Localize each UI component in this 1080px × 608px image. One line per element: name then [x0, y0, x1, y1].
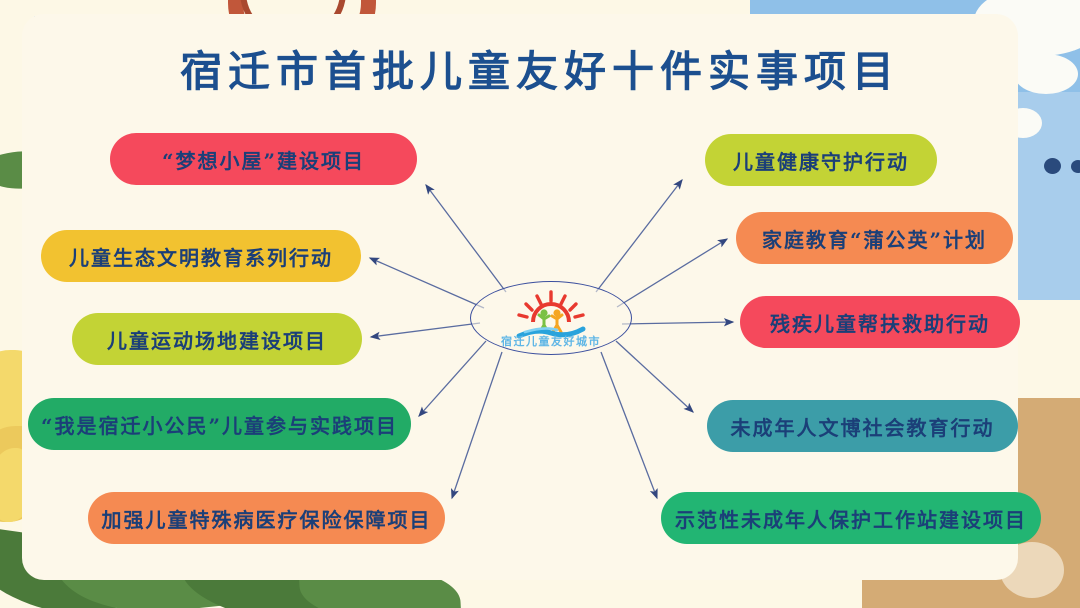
sun-ray-2 [537, 296, 541, 304]
connector-arrow-7 [617, 239, 727, 307]
project-pill-left-1[interactable]: “梦想小屋”建设项目 [110, 133, 417, 185]
project-pill-right-2[interactable]: 家庭教育“蒲公英”计划 [736, 212, 1013, 264]
sun-ray-7 [575, 315, 583, 317]
connector-arrow-3 [371, 323, 480, 337]
project-pill-label: 家庭教育“蒲公英”计划 [762, 224, 987, 253]
project-pill-label: 残疾儿童帮扶救助行动 [770, 308, 990, 337]
project-pill-label: 加强儿童特殊病医疗保险保障项目 [102, 504, 432, 533]
emblem-label: 宿迁儿童友好城市 [471, 333, 631, 349]
poster-canvas: 宿迁市首批儿童友好十件实事项目 “梦想小屋”建设项目儿童生态文明教育系列行动儿童… [0, 0, 1080, 608]
connector-arrow-5 [452, 352, 502, 498]
project-pill-label: 儿童生态文明教育系列行动 [69, 242, 333, 271]
project-pill-left-2[interactable]: 儿童生态文明教育系列行动 [41, 230, 361, 282]
project-pill-label: “我是宿迁小公民”儿童参与实践项目 [41, 410, 398, 439]
project-pill-left-5[interactable]: 加强儿童特殊病医疗保险保障项目 [88, 492, 445, 544]
project-pill-right-1[interactable]: 儿童健康守护行动 [705, 134, 937, 186]
project-pill-right-3[interactable]: 残疾儿童帮扶救助行动 [740, 296, 1020, 348]
project-pill-left-4[interactable]: “我是宿迁小公民”儿童参与实践项目 [28, 398, 411, 450]
city-emblem[interactable]: 宿迁儿童友好城市 [470, 281, 632, 355]
project-pill-label: “梦想小屋”建设项目 [162, 145, 365, 174]
connector-arrow-2 [370, 258, 484, 308]
sun-ray-4 [526, 304, 532, 310]
project-pill-label: 示范性未成年人保护工作站建设项目 [675, 504, 1027, 533]
connector-arrow-10 [601, 352, 657, 498]
connector-arrow-8 [622, 322, 733, 324]
project-pill-right-5[interactable]: 示范性未成年人保护工作站建设项目 [661, 492, 1041, 544]
project-pill-right-4[interactable]: 未成年人文博社会教育行动 [707, 400, 1018, 452]
project-pill-label: 儿童运动场地建设项目 [107, 325, 327, 354]
project-pill-label: 儿童健康守护行动 [733, 146, 909, 175]
sun-ray-3 [561, 296, 565, 304]
sun-ray-6 [519, 315, 527, 317]
project-pill-label: 未成年人文博社会教育行动 [731, 412, 995, 441]
project-pill-left-3[interactable]: 儿童运动场地建设项目 [72, 313, 362, 365]
connector-arrow-1 [426, 185, 506, 292]
sun-ray-5 [570, 304, 576, 310]
